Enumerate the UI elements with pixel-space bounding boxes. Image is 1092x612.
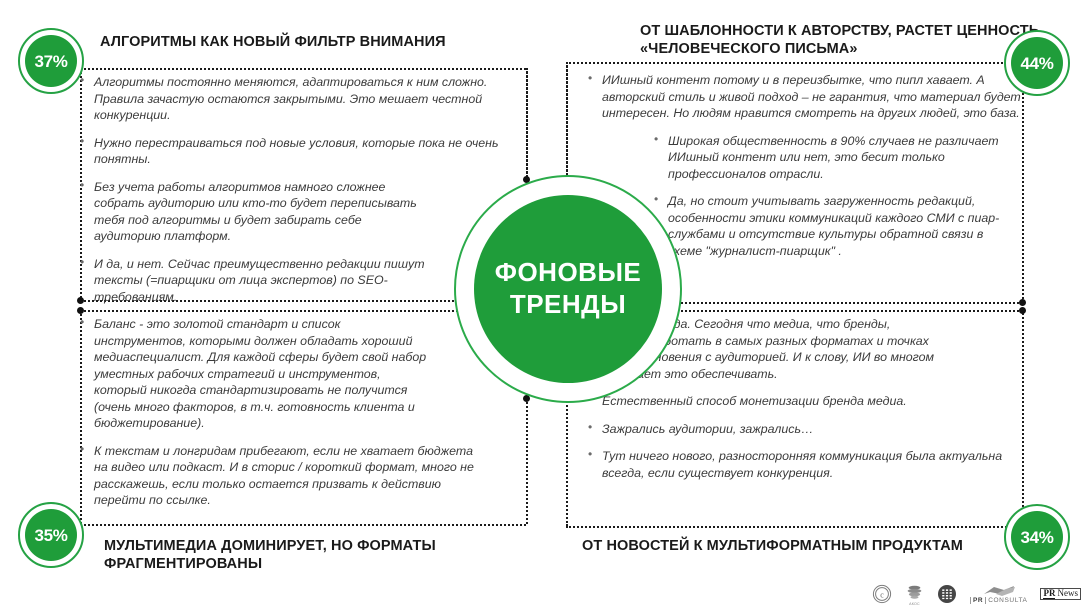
percent-badge-top-right: 44% [1004,30,1070,96]
percent-badge-top-left: 37% [18,28,84,94]
pr-consulta-word: CONSULTA [988,597,1027,604]
quadrant-title-bottom-right: ОТ НОВОСТЕЙ К МУЛЬТИФОРМАТНЫМ ПРОДУКТАМ [582,537,1022,555]
list-item: Без учета работы алгоритмов намного слож… [78,179,428,245]
list-item: Да, но стоит учитывать загруженность ред… [652,193,1002,259]
percent-value-bottom-right: 34% [1020,529,1053,546]
pr-news-pr: PR [1043,589,1055,599]
list-item: ИИшный контент потому и в переизбытке, ч… [586,72,1036,122]
percent-badge-bottom-left: 35% [18,502,84,568]
pr-news-news: News [1057,589,1078,598]
list-item: Нужно перестраиваться под новые условия,… [78,135,508,168]
percent-value-top-left: 37% [34,53,67,70]
pr-news-logo: PR News [1040,588,1081,600]
center-hub-label: ФОНОВЫЕ ТРЕНДЫ [474,195,662,383]
quadrant-title-top-left: АЛГОРИТМЫ КАК НОВЫЙ ФИЛЬТР ВНИМАНИЯ [100,33,520,51]
list-item: Широкая общественность в 90% случаев не … [652,133,1002,183]
pr-consulta-logo: PR CONSULTA [970,585,1027,604]
infographic-canvas: ФОНОВЫЕ ТРЕНДЫ 37% 44% 35% 34% АЛГОРИТМЫ… [0,0,1092,612]
quadrant-title-bottom-left: МУЛЬТИМЕДИА ДОМИНИРУЕТ, НО ФОРМАТЫ ФРАГМ… [104,537,524,573]
bullet-list-top-left: Алгоритмы постоянно меняются, адаптирова… [78,74,508,316]
akos-globe-logo: АКОС [905,582,924,606]
percent-value-top-right: 44% [1020,55,1053,72]
list-item: Тут ничего нового, разносторонняя коммун… [586,448,1036,481]
akos-caption: АКОС [909,602,920,606]
bullet-list-bottom-left: Баланс - это золотой стандарт и список и… [78,316,478,520]
center-title-line1: ФОНОВЫЕ [495,257,642,289]
svg-text:c: c [880,591,884,600]
list-item: И да, и нет. Сейчас преимущественно реда… [78,256,428,306]
footer-logo-strip: c АКОС [872,582,1081,606]
percent-value-bottom-left: 35% [34,527,67,544]
ratings-seal-logo [937,584,957,604]
list-item: Зажрались аудитории, зажрались… [586,421,1036,438]
list-item: Естественный способ монетизации бренда м… [586,393,938,410]
copyright-mark-logo: c [872,584,892,604]
pr-consulta-tag: PR [970,597,986,604]
list-item: Баланс - это золотой стандарт и список и… [78,316,430,432]
center-title-line2: ТРЕНДЫ [510,289,626,321]
percent-badge-bottom-right: 34% [1004,504,1070,570]
list-item: К текстам и лонгридам прибегают, если не… [78,443,478,509]
quadrant-title-top-right: ОТ ШАБЛОННОСТИ К АВТОРСТВУ, РАСТЕТ ЦЕННО… [640,22,1040,58]
list-item: Алгоритмы постоянно меняются, адаптирова… [78,74,508,124]
